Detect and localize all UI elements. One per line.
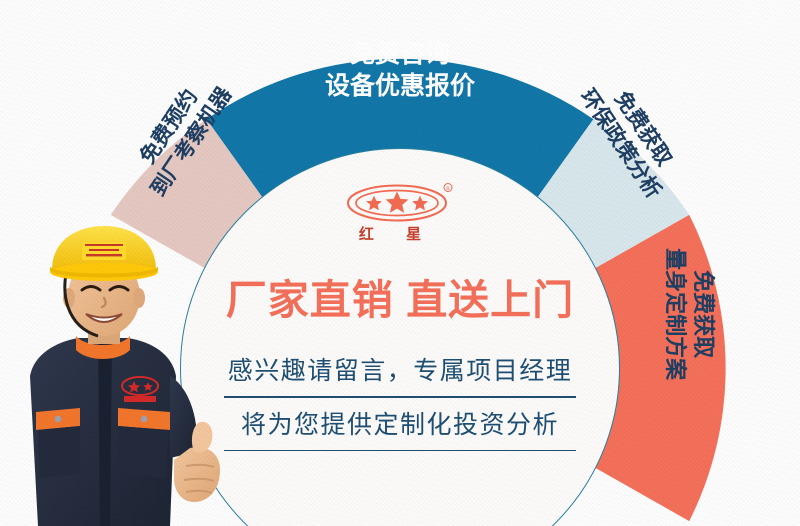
promo-banner: 免费预约 到厂考察机器 免费咨询 设备优惠报价 免费获取 环保政策分析 免费获取… xyxy=(0,0,800,526)
logo-text: 红 星 xyxy=(359,225,435,243)
page-title: 厂家直销 直送上门 xyxy=(226,266,574,326)
worker-pocket-right xyxy=(118,426,168,478)
segment-custom-line2: 量身定制方案 xyxy=(661,219,689,409)
svg-text:R: R xyxy=(446,186,450,192)
subtitle-line-2: 将为您提供定制化投资分析 xyxy=(241,405,559,441)
worker-jacket-placket xyxy=(98,338,112,526)
subtitle-line-1: 感兴趣请留言，专属项目经理 xyxy=(228,351,573,387)
segment-label-consult[interactable]: 免费咨询 设备优惠报价 xyxy=(300,38,500,102)
segment-consult-line1: 免费咨询 xyxy=(300,38,500,70)
divider-top xyxy=(224,396,576,398)
worker-pocket-left xyxy=(38,426,80,478)
segment-consult-line2: 设备优惠报价 xyxy=(300,70,500,102)
divider-bottom xyxy=(224,450,576,452)
worker-photo xyxy=(0,226,224,526)
segment-label-custom[interactable]: 免费获取 量身定制方案 xyxy=(661,219,717,409)
hongxing-three-star-logo: R 红 星 xyxy=(344,182,456,244)
segment-custom-line1: 免费获取 xyxy=(689,219,717,409)
center-content: R 红 星 厂家直销 直送上门 感兴趣请留言，专属项目经理 将为您提供定制化投资… xyxy=(180,148,620,526)
